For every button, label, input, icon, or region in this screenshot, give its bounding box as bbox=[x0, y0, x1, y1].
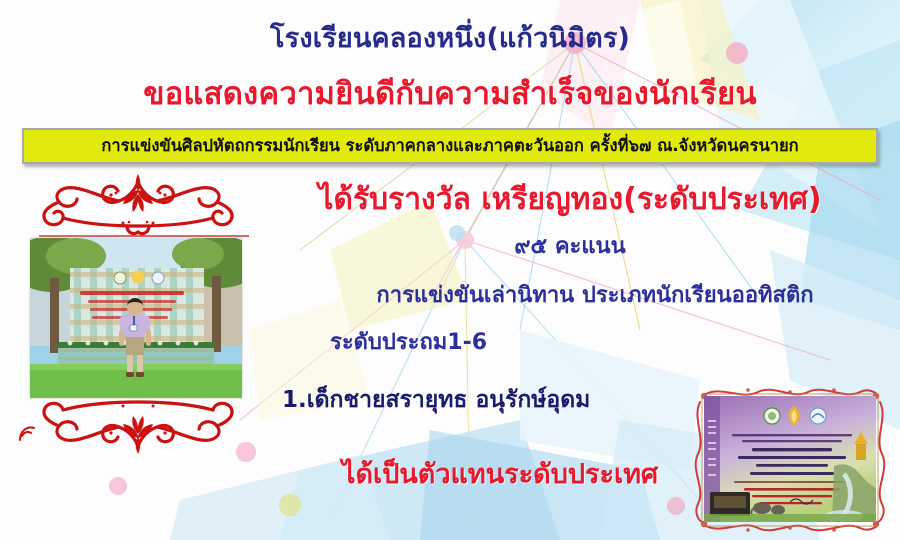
event-banner: การแข่งขันศิลปหัตถกรรมนักเรียน ระดับภาคก… bbox=[22, 128, 878, 164]
filigree-ornament-top-icon bbox=[23, 168, 253, 240]
certificate-image bbox=[704, 396, 876, 522]
photo-block bbox=[12, 168, 264, 458]
award-score: ๙๕ คะแนน bbox=[400, 228, 740, 263]
student-name: 1.เด็กชายสรายุทธ อนุรักษ์อุดม bbox=[282, 382, 752, 418]
certificate-block bbox=[688, 384, 892, 536]
award-level: ระดับประถม1-6 bbox=[330, 324, 610, 359]
filigree-ornament-bottom-icon bbox=[23, 396, 253, 458]
certificate-banner-canvas: โรงเรียนคลองหนึ่ง(แก้วนิมิตร) ขอแสดงความ… bbox=[0, 0, 900, 540]
award-headline: ได้รับรางวัล เหรียญทอง(ระดับประเทศ) bbox=[250, 176, 890, 223]
school-name-heading: โรงเรียนคลองหนึ่ง(แก้วนิมิตร) bbox=[0, 16, 900, 59]
certificate-image-content bbox=[704, 396, 876, 522]
representative-note: ได้เป็นตัวแทนระดับประเทศ bbox=[270, 452, 730, 495]
congratulation-heading: ขอแสดงความยินดีกับความสำเร็จของนักเรียน bbox=[0, 68, 900, 118]
award-category: การแข่งขันเล่านิทาน ประเภทนักเรียนออทิสต… bbox=[300, 277, 890, 312]
student-photo-content bbox=[30, 238, 242, 398]
corner-flourish-icon bbox=[16, 422, 38, 444]
student-photo bbox=[30, 238, 242, 398]
event-banner-text: การแข่งขันศิลปหัตถกรรมนักเรียน ระดับภาคก… bbox=[101, 133, 798, 159]
